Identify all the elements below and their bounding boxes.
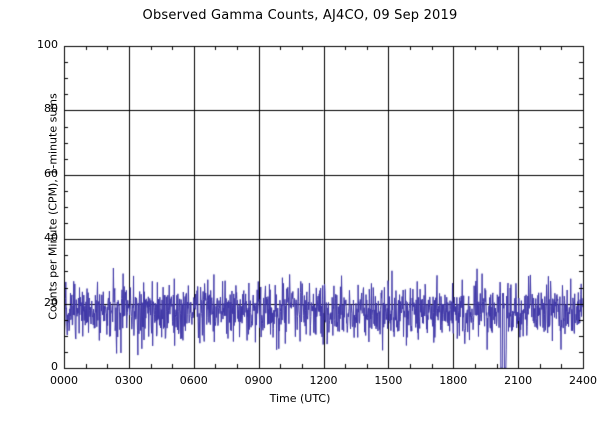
y-tick-label: 0 <box>16 360 58 373</box>
x-tick-label: 0300 <box>99 374 159 387</box>
x-tick-label: 2400 <box>553 374 600 387</box>
x-tick-label: 1200 <box>294 374 354 387</box>
y-tick-label: 80 <box>16 102 58 115</box>
x-tick-label: 0000 <box>34 374 94 387</box>
x-axis-label: Time (UTC) <box>0 392 600 405</box>
chart-figure: Observed Gamma Counts, AJ4CO, 09 Sep 201… <box>0 0 600 428</box>
x-tick-label: 2100 <box>488 374 548 387</box>
y-tick-label: 100 <box>16 38 58 51</box>
y-tick-label: 40 <box>16 231 58 244</box>
x-tick-label: 0600 <box>164 374 224 387</box>
chart-title: Observed Gamma Counts, AJ4CO, 09 Sep 201… <box>0 8 600 23</box>
x-tick-label: 0900 <box>229 374 289 387</box>
y-tick-label: 60 <box>16 167 58 180</box>
gamma-counts-plot-canvas <box>0 0 600 428</box>
y-axis-label: Counts per Minute (CPM), 1-minute sums <box>47 42 60 372</box>
x-tick-label: 1500 <box>358 374 418 387</box>
x-tick-label: 1800 <box>423 374 483 387</box>
y-tick-label: 20 <box>16 296 58 309</box>
